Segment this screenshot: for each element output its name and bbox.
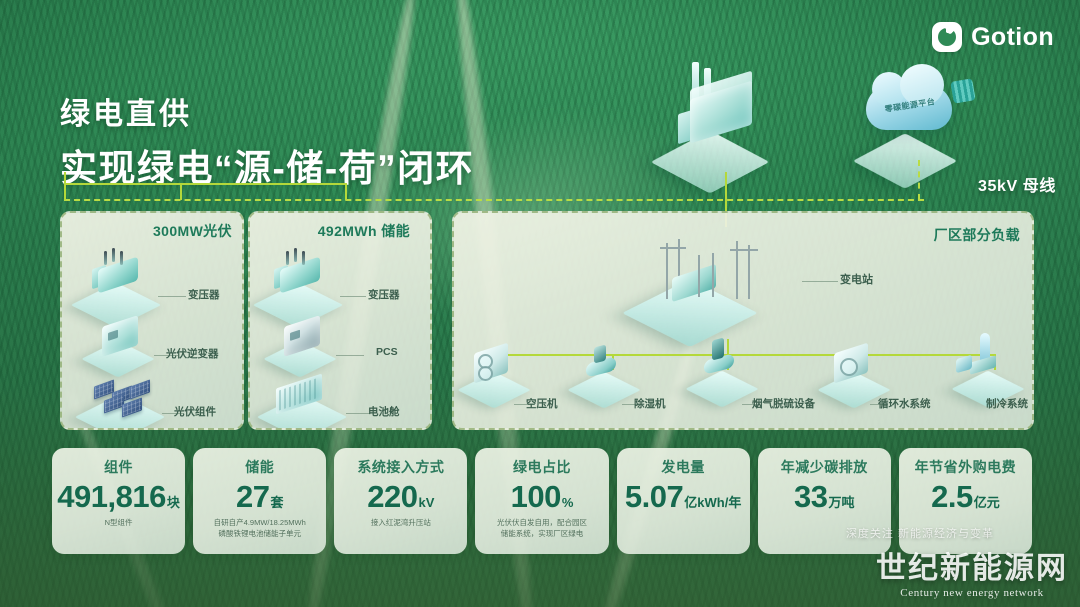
stat-label: 组件 [104,457,133,477]
dehumidifier-motor [594,345,606,364]
transformer-icon [84,247,148,311]
brand-logo: Gotion [932,22,1054,52]
panel-ess-item-label-1: PCS [376,346,398,358]
stat-note: 接入红泥湾升压站 [364,518,438,529]
stat-label: 年节省外购电费 [915,457,1017,477]
stat-value-row: 27 套 [236,481,284,512]
stat-label: 储能 [245,457,274,477]
transformer-bushing [120,251,123,265]
transformer-bushing [104,251,107,265]
transformer-bushing [286,251,289,265]
leader-line [802,281,838,282]
refrigeration-base [970,355,996,374]
stat-card: 发电量 5.07 亿kWh/年 [617,448,750,554]
stat-card: 系统接入方式 220 kV 接入红泥湾升压站 [334,448,467,554]
pv-module-icon [82,369,158,425]
stat-value-row: 100 % [511,481,574,512]
stat-unit: kV [419,495,435,510]
transformer-icon [266,247,330,311]
factory-plant-icon [662,66,790,174]
dehumidifier-body [584,346,620,378]
panel-load-title: 厂区部分负载 [934,225,1020,245]
transformer-bushing [302,251,305,265]
leader-line [346,413,370,414]
stat-value: 5.07 [625,481,683,512]
compressor-fan [478,366,493,381]
inverter-screen [108,330,118,341]
panel-load: 厂区部分负载 变电站 空压机 [452,211,1034,430]
connector-cloud-down [918,160,920,200]
substation-pylon [698,255,700,297]
stat-value-row: 5.07 亿kWh/年 [625,481,741,512]
panel-pv-item-label-2: 光伏组件 [174,404,216,419]
pcs-screen [290,330,300,341]
substation-label: 变电站 [840,271,873,287]
stat-card: 年节省外购电费 2.5 亿元 [899,448,1032,554]
connector-factory-down [725,172,727,200]
stat-label: 绿电占比 [513,457,571,477]
desulfur-pump [702,343,738,375]
substation-icon [642,229,792,339]
stat-value-row: 491,816 块 [57,481,180,512]
substation-crossarm [660,247,686,249]
connector-pv-up [180,183,182,200]
substation-pylon [748,245,750,299]
battery-container-icon [266,369,342,425]
panel-ess-item-label-0: 变压器 [368,287,400,302]
cooling-unit-fan [840,358,858,376]
substation-crossarm [730,249,758,251]
title-line-1: 绿电直供 [60,96,474,134]
pv-panel [94,379,114,399]
panel-ess-title: 492MWh 储能 [318,221,410,241]
bus-label: 35kV 母线 [978,172,1056,196]
substation-pylon [666,243,668,299]
connector-ess-up [345,183,347,200]
transformer-bushing [294,248,297,262]
stat-value: 2.5 [931,481,973,512]
dehumidifier-icon [572,338,636,400]
stat-label: 年减少碳排放 [781,457,868,477]
load-label-0: 空压机 [526,396,558,411]
cloud-platform-icon: 零碳能源平台 [856,78,976,174]
stat-note: 光伏伏自发自用，配合园区 储能系统，实现厂区绿电 [490,518,594,540]
stat-value: 27 [236,481,269,512]
leader-line [340,296,366,297]
stat-value: 33 [794,481,827,512]
stat-card: 储能 27 套 自研自产4.9MW/18.25MWh 磷酸铁锂电池储能子单元 [193,448,326,554]
panel-pv-title: 300MW光伏 [153,221,232,241]
cooling-water-icon [822,338,886,400]
stat-card: 绿电占比 100 % 光伏伏自发自用，配合园区 储能系统，实现厂区绿电 [475,448,608,554]
stat-card: 年减少碳排放 33 万吨 [758,448,891,554]
stat-unit: 万吨 [829,492,855,511]
bus-line-35kv [64,199,924,201]
stat-unit: % [562,495,574,510]
refrigeration-tower [970,333,996,373]
inverter-icon [88,309,152,369]
stat-value-row: 33 万吨 [794,481,855,512]
stat-unit: 块 [167,492,180,511]
load-label-1: 除湿机 [634,396,666,411]
panel-ess-item-label-2: 电池舱 [368,404,400,419]
substation-pylon [712,253,714,297]
stat-unit: 亿kWh/年 [684,492,741,511]
refrigeration-icon [954,331,1024,399]
cloud-chip-icon [950,78,975,103]
gotion-logo-icon [932,22,962,52]
load-label-4: 制冷系统 [986,396,1028,411]
leader-line [158,296,186,297]
transformer-bushing [112,248,115,262]
stat-label: 发电量 [661,457,705,477]
stat-note: 自研自产4.9MW/18.25MWh 磷酸铁锂电池储能子单元 [207,518,313,540]
device-base-plate [457,372,531,409]
stat-unit: 套 [270,492,283,511]
panel-pv-item-label-0: 变压器 [188,287,220,302]
connector-bus-left-h [64,183,182,185]
air-compressor-icon [462,338,526,400]
stat-value: 220 [367,481,417,512]
load-label-2: 烟气脱硫设备 [752,396,815,411]
desulfurization-icon [688,333,756,399]
stat-value-row: 220 kV [367,481,434,512]
infographic-stage: Gotion 绿电直供 实现绿电“源-储-荷”闭环 零碳能源平台 35kV 母线… [0,0,1080,607]
load-label-3: 循环水系统 [878,396,931,411]
stat-unit: 亿元 [974,492,1000,511]
panel-pv-item-label-1: 光伏逆变器 [166,346,219,361]
pcs-cabinet-icon [270,309,334,369]
desulfur-motor [712,338,724,361]
device-base-plate [685,371,759,408]
stat-value: 100 [511,481,561,512]
panel-ess: 492MWh 储能 变压器 PCS 电池舱 [248,211,432,430]
page-title: 绿电直供 实现绿电“源-储-荷”闭环 [60,96,474,192]
leader-line [336,355,364,356]
stat-value: 491,816 [57,481,166,512]
connector-bus-mid-h [180,183,347,185]
panel-pv: 300MW光伏 变压器 光伏逆变器 光伏组件 [60,211,244,430]
stat-note: N型组件 [98,518,140,529]
connector-bus-left-end [64,172,66,200]
stat-card: 组件 491,816 块 N型组件 [52,448,185,554]
stat-value-row: 2.5 亿元 [931,481,1000,512]
stat-card-row: 组件 491,816 块 N型组件 储能 27 套 自研自产4.9MW/18.2… [52,448,1032,554]
pv-panel [130,379,150,399]
brand-name: Gotion [971,23,1054,52]
stat-label: 系统接入方式 [357,457,444,477]
